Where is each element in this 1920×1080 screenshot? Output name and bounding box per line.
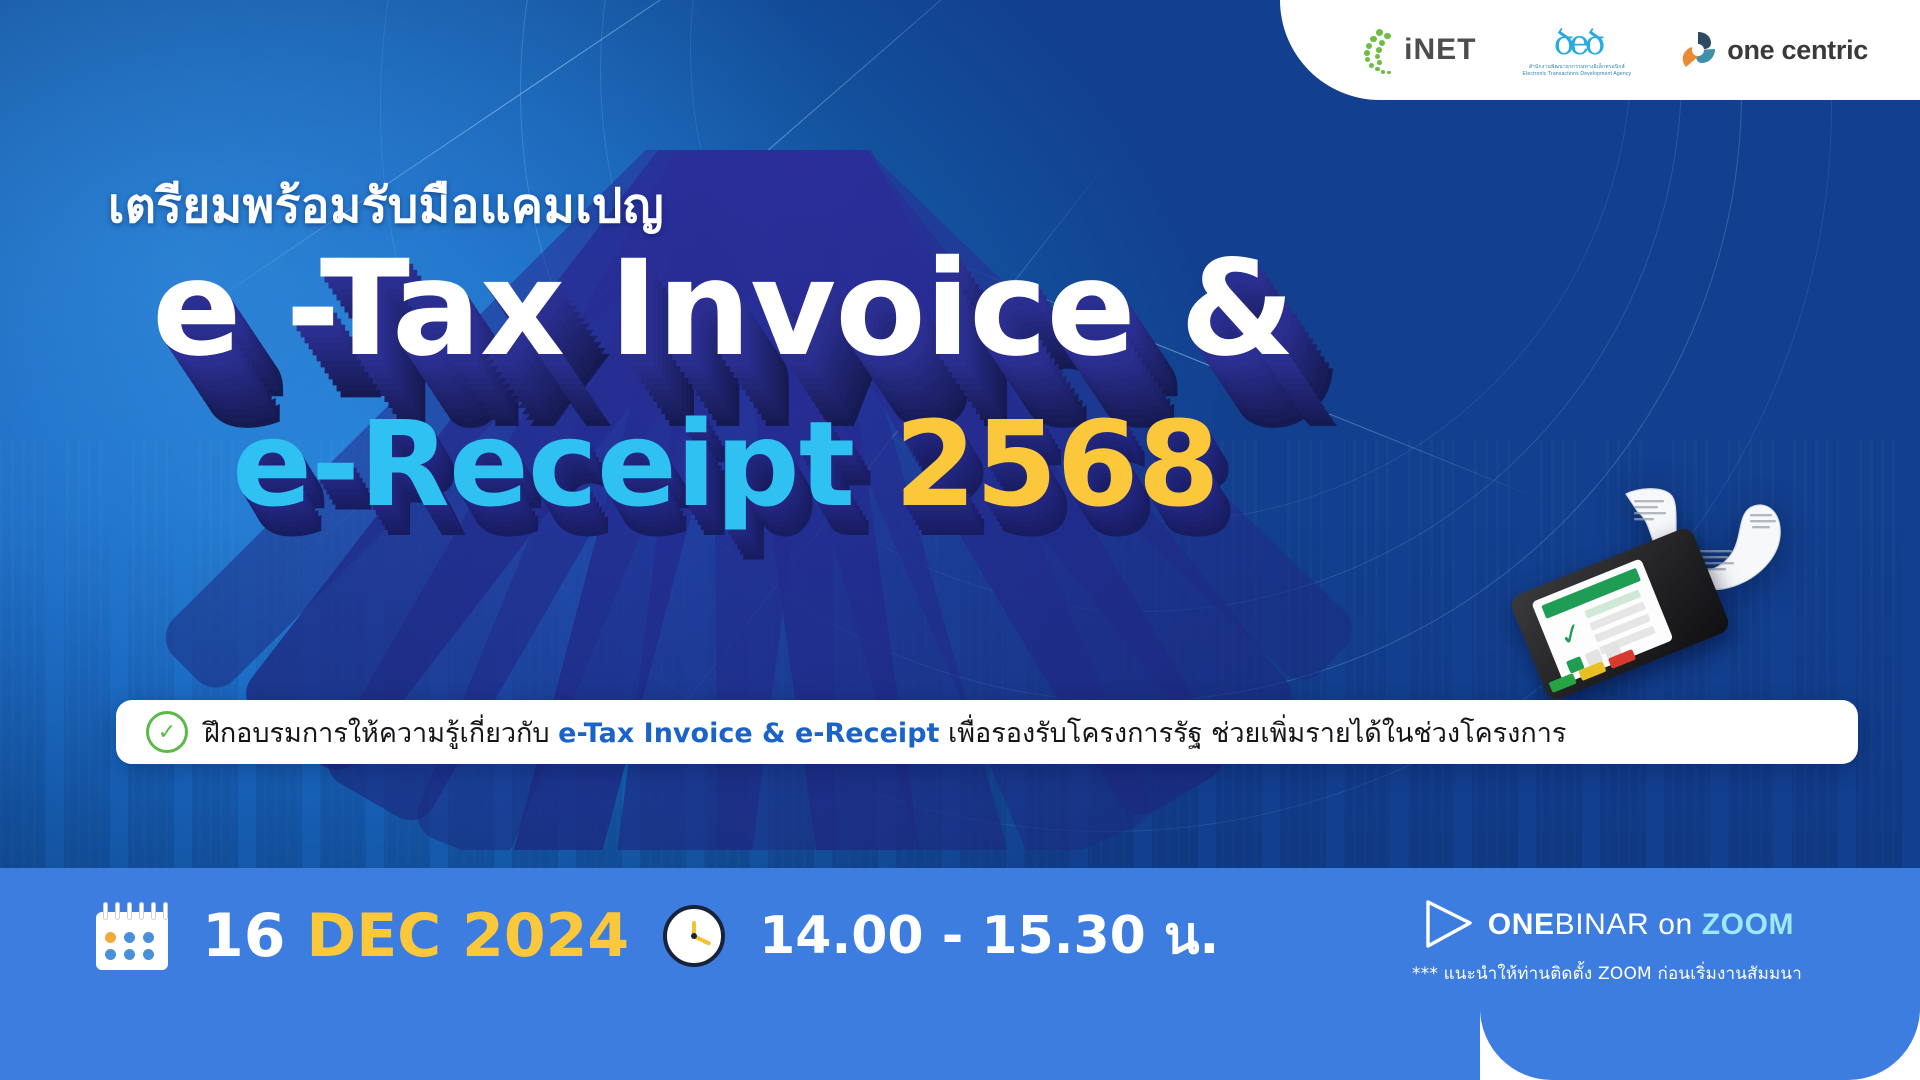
feature-text-after: เพื่อรองรับโครงการรัฐ ช่วยเพิ่มรายได้ในช… [948, 718, 1566, 749]
one-centric-logo: one centric [1677, 29, 1868, 71]
platform-brand-one: ONE [1488, 908, 1555, 941]
platform-brand-binar: BINAR [1555, 908, 1650, 941]
feature-text-before: ฝึกอบรมการให้ความรู้เกี่ยวกับ [204, 718, 550, 749]
platform-brand: ONEBINAR on ZOOM [1488, 908, 1794, 942]
platform-brand-row: ONEBINAR on ZOOM [1420, 896, 1794, 954]
page-title-receipt: e-Receipt [232, 395, 854, 533]
event-date: 16 DEC 2024 [202, 906, 629, 966]
pos-screen-check-icon: ✓ [1552, 615, 1591, 654]
logo-bar: iNET ծeծ สำนักงานพัฒนาธุรกรรมทางอิเล็กทร… [1280, 0, 1920, 100]
clock-icon [663, 905, 725, 967]
platform-brand-on: on [1649, 908, 1701, 941]
play-triangle-icon [1420, 896, 1478, 954]
schedule-row: 16 DEC 2024 14.00 - 15.30 น. [96, 902, 1219, 970]
page-title-line-2: e-Receipt 2568 [232, 404, 1219, 524]
etda-mark-icon: ծeծ [1553, 23, 1600, 63]
event-time: 14.00 - 15.30 น. [759, 910, 1219, 962]
feature-bar: ✓ ฝึกอบรมการให้ความรู้เกี่ยวกับ e-Tax In… [116, 700, 1858, 764]
one-centric-text: one centric [1727, 35, 1868, 66]
platform-block: ONEBINAR on ZOOM *** แนะนำให้ท่านติดตั้ง… [1412, 896, 1802, 987]
etda-logo: ծeծ สำนักงานพัฒนาธุรกรรมทางอิเล็กทรอนิกส… [1523, 23, 1632, 78]
page-title-year: 2568 [894, 395, 1218, 533]
page-title-line-1: e -Tax Invoice & [152, 242, 1294, 377]
platform-note: *** แนะนำให้ท่านติดตั้ง ZOOM ก่อนเริ่มงา… [1412, 960, 1802, 987]
event-date-day: 16 [202, 901, 286, 971]
pos-terminal-illustration: ✓ [1512, 500, 1912, 700]
bottom-bar: 16 DEC 2024 14.00 - 15.30 น. ONEBINAR on… [0, 868, 1920, 1080]
feature-bar-text: ฝึกอบรมการให้ความรู้เกี่ยวกับ e-Tax Invo… [204, 711, 1566, 754]
one-centric-mark-icon [1677, 29, 1719, 71]
inet-logo: iNET [1362, 29, 1476, 71]
check-circle-icon: ✓ [146, 711, 188, 753]
inet-dots-icon [1362, 29, 1396, 71]
inet-logo-text: iNET [1404, 33, 1476, 67]
platform-brand-zoom: ZOOM [1702, 908, 1794, 941]
etda-sub-line-1: สำนักงานพัฒนาธุรกรรมทางอิเล็กทรอนิกส์ [1529, 64, 1625, 70]
event-date-month-year: DEC 2024 [306, 901, 629, 971]
calendar-icon [96, 902, 168, 970]
promo-banner: iNET ծeծ สำนักงานพัฒนาธุรกรรมทางอิเล็กทร… [0, 0, 1920, 1080]
feature-text-highlight: e-Tax Invoice & e-Receipt [558, 718, 939, 749]
etda-sub-line-2: Electronic Transactions Development Agen… [1523, 71, 1632, 77]
